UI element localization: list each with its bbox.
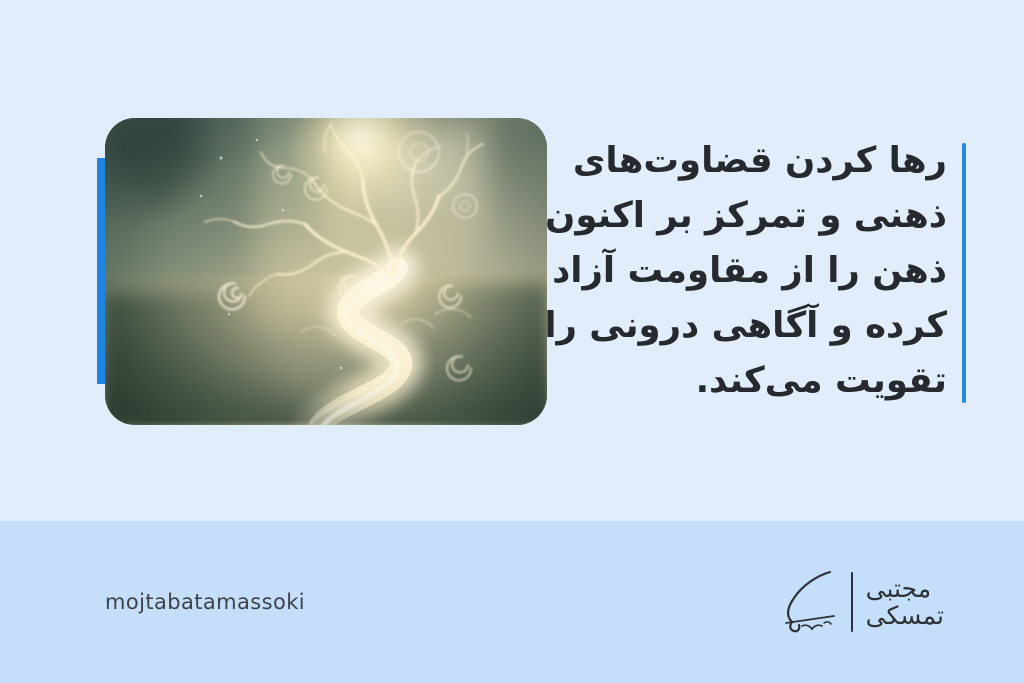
artwork-lightwork-svg	[105, 118, 547, 425]
quote-line-1: رها کردن قضاوت‌های	[575, 133, 947, 188]
artwork-card	[105, 118, 547, 425]
content-region: رها کردن قضاوت‌های ذهنی و تمرکز بر اکنون…	[0, 0, 1024, 521]
quote-line-5: تقویت می‌کند.	[575, 353, 947, 408]
brand-divider	[851, 572, 853, 632]
brand-logo: مجتبی تمسکی	[780, 563, 944, 641]
quote-line-3: ذهن را از مقاومت آزاد	[575, 243, 947, 298]
quote-block: رها کردن قضاوت‌های ذهنی و تمرکز بر اکنون…	[575, 133, 947, 408]
media-figure	[97, 118, 547, 425]
artwork-image	[105, 118, 547, 425]
quote-card-canvas: رها کردن قضاوت‌های ذهنی و تمرکز بر اکنون…	[0, 0, 1024, 683]
brand-name-last: تمسکی	[866, 602, 944, 629]
quote-line-2: ذهنی و تمرکز بر اکنون،	[575, 188, 947, 243]
footer-handle: mojtabatamassoki	[105, 590, 305, 614]
brand-wordmark: مجتبی تمسکی	[866, 575, 944, 629]
artwork-tree-of-light	[205, 124, 483, 296]
quote-line-4: کرده و آگاهی درونی را	[575, 298, 947, 353]
artwork-sparkles	[200, 139, 343, 369]
quote-accent-rule	[962, 143, 966, 403]
calligraphy-signature-icon	[780, 566, 838, 638]
brand-name-first: مجتبی	[866, 575, 931, 602]
